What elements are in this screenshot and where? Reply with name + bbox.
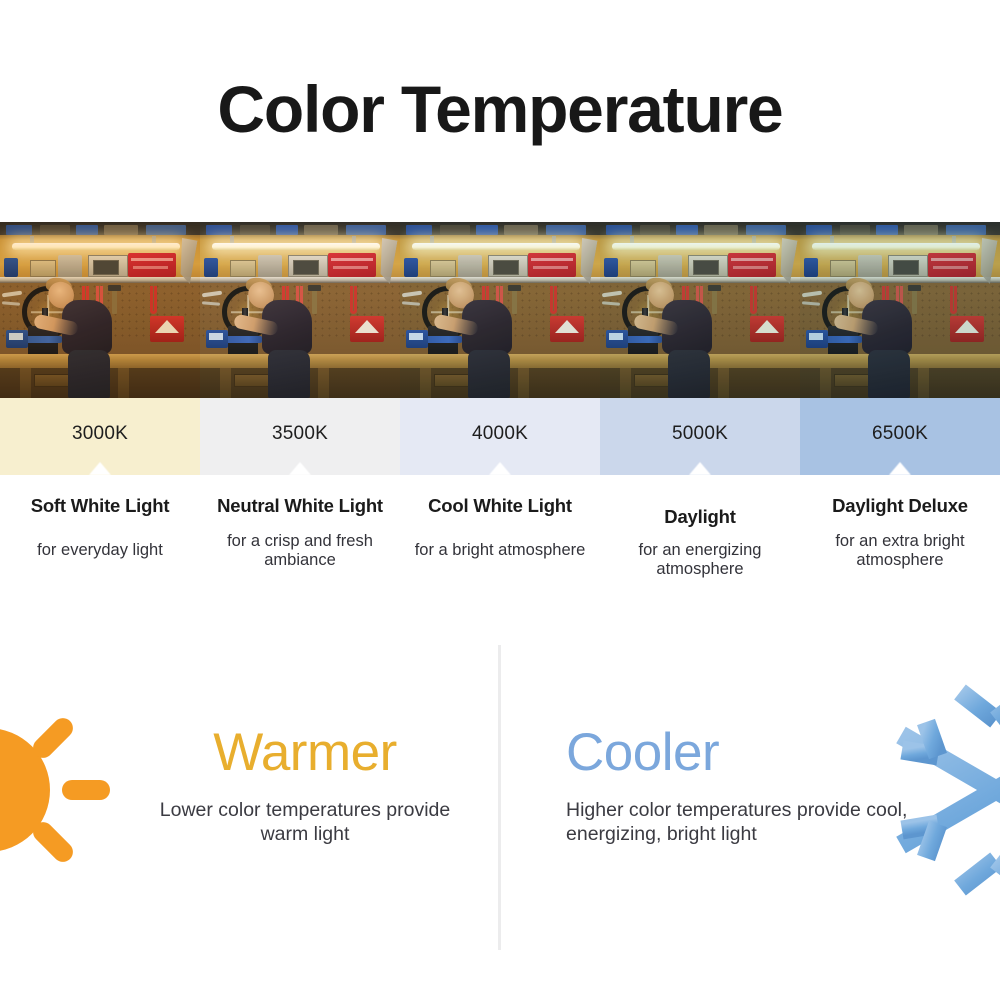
- swatch-label: 3000K: [72, 423, 128, 445]
- pointer-notch-icon: [889, 462, 911, 475]
- sun-icon: [0, 682, 128, 898]
- light-description: for a crisp and fresh ambiance: [214, 532, 386, 570]
- photo-panel-3000k: [0, 222, 200, 398]
- light-description: for a bright atmosphere: [414, 541, 586, 560]
- light-name: Neutral White Light: [214, 495, 386, 517]
- cooler-block: Cooler Higher color temperatures provide…: [566, 726, 916, 847]
- cooler-heading: Cooler: [566, 726, 916, 779]
- swatch-4000k: 4000K: [400, 398, 600, 475]
- cooler-body: Higher color temperatures provide cool, …: [566, 799, 916, 847]
- swatch-label: 6500K: [872, 423, 928, 445]
- swatch-label: 4000K: [472, 423, 528, 445]
- description-3000k: Soft White Light for everyday light: [0, 495, 200, 635]
- swatch-3000k: 3000K: [0, 398, 200, 475]
- description-6500k: Daylight Deluxe for an extra bright atmo…: [800, 495, 1000, 635]
- description-3500k: Neutral White Light for a crisp and fres…: [200, 495, 400, 635]
- light-name: Daylight Deluxe: [814, 495, 986, 517]
- infographic-root: Color Temperature: [0, 0, 1000, 1000]
- photo-panel-5000k: [600, 222, 800, 398]
- swatch-5000k: 5000K: [600, 398, 800, 475]
- swatch-label: 5000K: [672, 423, 728, 445]
- light-description: for an extra bright atmosphere: [814, 532, 986, 570]
- description-4000k: Cool White Light for a bright atmosphere: [400, 495, 600, 635]
- page-title: Color Temperature: [0, 76, 1000, 142]
- photo-panel-3500k: [200, 222, 400, 398]
- light-name: Cool White Light: [414, 495, 586, 517]
- swatch-3500k: 3500K: [200, 398, 400, 475]
- photo-panel-4000k: [400, 222, 600, 398]
- swatch-label: 3500K: [272, 423, 328, 445]
- warmer-body: Lower color temperatures provide warm li…: [140, 799, 470, 847]
- photo-panel-6500k: [800, 222, 1000, 398]
- light-name: Daylight: [614, 495, 786, 528]
- pointer-notch-icon: [689, 462, 711, 475]
- swatch-6500k: 6500K: [800, 398, 1000, 475]
- light-description: for everyday light: [14, 541, 186, 560]
- pointer-notch-icon: [489, 462, 511, 475]
- description-row: Soft White Light for everyday light Neut…: [0, 495, 1000, 635]
- pointer-notch-icon: [289, 462, 311, 475]
- warmer-block: Warmer Lower color temperatures provide …: [140, 726, 470, 847]
- description-5000k: Daylight for an energizing atmosphere: [600, 495, 800, 635]
- photo-comparison-strip: [0, 222, 1000, 398]
- light-name: Soft White Light: [14, 495, 186, 517]
- warmer-heading: Warmer: [140, 726, 470, 779]
- light-description: for an energizing atmosphere: [614, 541, 786, 579]
- kelvin-swatch-bar: 3000K 3500K 4000K 5000K 6500K: [0, 398, 1000, 475]
- warm-cool-comparison: Warmer Lower color temperatures provide …: [0, 636, 1000, 1000]
- vertical-divider: [498, 645, 501, 950]
- pointer-notch-icon: [89, 462, 111, 475]
